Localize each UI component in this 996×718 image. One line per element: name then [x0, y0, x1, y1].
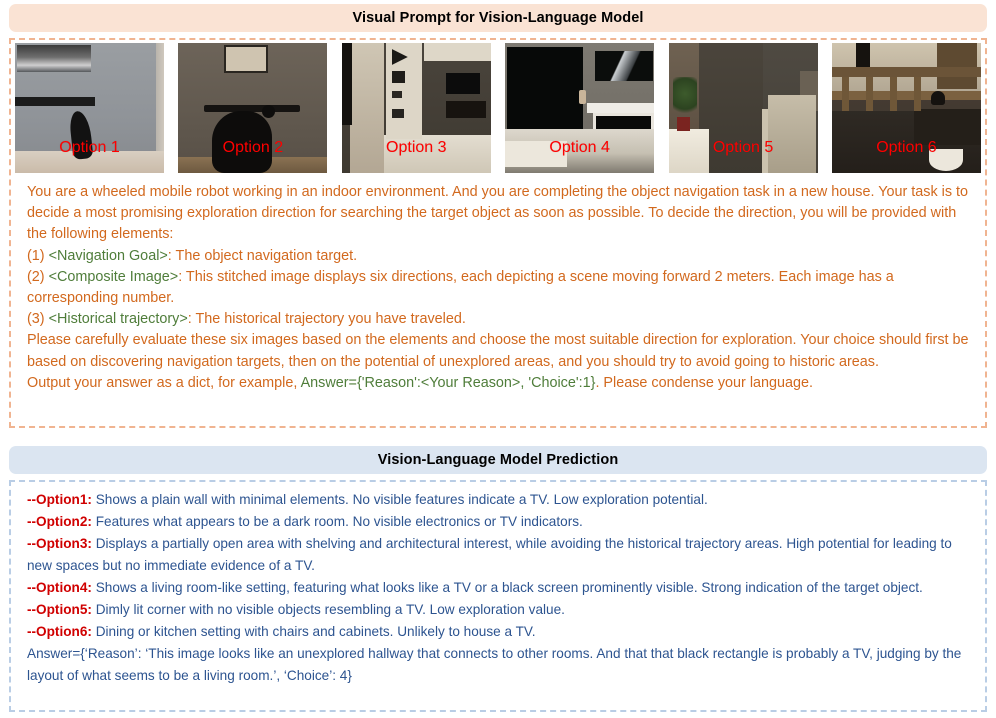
prediction-option-text: Answer={‘Reason’: ‘This image looks like… — [27, 646, 961, 683]
scene6-dark-object — [931, 91, 945, 105]
prompt-run: : The object navigation target. — [168, 248, 357, 264]
visual-prompt-section-title: Visual Prompt for Vision-Language Model — [9, 4, 987, 32]
scene6-dark-column — [856, 43, 870, 69]
option-6-label: Option 6 — [832, 140, 981, 156]
visual-prompt-panel: Option 1 Option 2 — [9, 38, 987, 428]
prediction-panel: --Option1: Shows a plain wall with minim… — [9, 480, 987, 712]
prediction-option-text: Dining or kitchen setting with chairs an… — [92, 624, 536, 639]
scene6-baluster-4 — [914, 77, 921, 111]
prediction-option-text: Displays a partially open area with shel… — [27, 536, 952, 573]
prediction-answer-line: Answer={‘Reason’: ‘This image looks like… — [27, 643, 971, 687]
scene4-mantel — [587, 103, 654, 113]
scene5-panel — [768, 95, 816, 173]
prompt-run: . Please condense your language. — [595, 375, 813, 391]
prediction-line-1: --Option1: Shows a plain wall with minim… — [27, 489, 971, 511]
prompt-line-6: Output your answer as a dict, for exampl… — [27, 373, 971, 394]
scene5-plant — [673, 77, 697, 119]
prompt-body-text: You are a wheeled mobile robot working i… — [27, 182, 971, 394]
composite-option-1[interactable]: Option 1 — [15, 43, 164, 173]
composite-option-4[interactable]: Option 4 — [505, 43, 654, 173]
prediction-option-text: Features what appears to be a dark room.… — [92, 514, 583, 529]
option-5-label: Option 5 — [669, 140, 818, 156]
prompt-line-1: You are a wheeled mobile robot working i… — [27, 182, 971, 246]
scene6-railing-top — [832, 67, 981, 77]
option-4-label: Option 4 — [505, 140, 654, 156]
scene6-railing-mid — [832, 91, 981, 100]
prediction-line-6: --Option6: Dining or kitchen setting wit… — [27, 621, 971, 643]
prompt-run: (3) — [27, 311, 49, 327]
prediction-option-label: --Option4: — [27, 580, 92, 595]
prompt-run: : The historical trajectory you have tra… — [188, 311, 466, 327]
scene6-baluster-1 — [842, 77, 849, 111]
prediction-line-4: --Option4: Shows a living room-like sett… — [27, 577, 971, 599]
prompt-tag: <Composite Image> — [49, 269, 179, 285]
prediction-body-text: --Option1: Shows a plain wall with minim… — [27, 489, 971, 687]
prompt-run: Output your answer as a dict, for exampl… — [27, 375, 301, 391]
prediction-line-2: --Option2: Features what appears to be a… — [27, 511, 971, 533]
composite-option-3[interactable]: Option 3 — [342, 43, 491, 173]
composite-option-2[interactable]: Option 2 — [178, 43, 327, 173]
scene2-knob — [262, 105, 275, 118]
prediction-option-label: --Option5: — [27, 602, 92, 617]
scene6-baluster-3 — [890, 77, 897, 111]
scene6-arch — [937, 43, 977, 89]
prompt-run: (2) — [27, 269, 49, 285]
scene6-baluster-2 — [866, 77, 873, 111]
option-2-label: Option 2 — [178, 140, 327, 156]
prompt-run: (1) — [27, 248, 49, 264]
prompt-line-3: (2) <Composite Image>: This stitched ima… — [27, 267, 971, 309]
scene4-window — [595, 51, 653, 81]
prompt-run: Please carefully evaluate these six imag… — [27, 332, 969, 369]
prompt-tag: Answer={'Reason':<Your Reason>, 'Choice'… — [301, 375, 596, 391]
option-3-label: Option 3 — [342, 140, 491, 156]
prediction-option-label: --Option2: — [27, 514, 92, 529]
composite-option-6[interactable]: Option 6 — [832, 43, 981, 173]
prompt-line-4: (3) <Historical trajectory>: The histori… — [27, 309, 971, 330]
scene3-shelf-item-3 — [392, 91, 402, 98]
composite-option-5[interactable]: Option 5 — [669, 43, 818, 173]
scene4-vase — [579, 90, 586, 104]
scene3-doorway-lower — [446, 101, 486, 118]
prediction-line-3: --Option3: Displays a partially open are… — [27, 533, 971, 577]
prediction-section-title: Vision-Language Model Prediction — [9, 446, 987, 474]
prompt-line-2: (1) <Navigation Goal>: The object naviga… — [27, 246, 971, 267]
figure-root: Visual Prompt for Vision-Language Model … — [0, 0, 996, 718]
scene3-left-dark-edge — [342, 43, 352, 125]
prediction-option-label: --Option1: — [27, 492, 92, 507]
scene3-shelf-item-2 — [392, 71, 405, 83]
scene2-picture-frame — [224, 45, 268, 73]
prompt-line-5: Please carefully evaluate these six imag… — [27, 330, 971, 372]
option-1-label: Option 1 — [15, 140, 164, 156]
prediction-line-5: --Option5: Dimly lit corner with no visi… — [27, 599, 971, 621]
prompt-tag: <Navigation Goal> — [49, 248, 168, 264]
prediction-option-label: --Option3: — [27, 536, 92, 551]
prediction-option-text: Shows a living room-like setting, featur… — [92, 580, 923, 595]
scene3-shelf-item-4 — [392, 109, 404, 118]
scene3-doorway-upper — [446, 73, 480, 94]
composite-image-strip: Option 1 Option 2 — [11, 40, 985, 177]
scene4-tv-black-screen — [507, 47, 583, 131]
prediction-option-text: Shows a plain wall with minimal elements… — [92, 492, 708, 507]
scene3-ceiling — [424, 43, 491, 61]
scene5-plant-pot — [677, 117, 690, 131]
prediction-option-label: --Option6: — [27, 624, 92, 639]
prediction-option-text: Dimly lit corner with no visible objects… — [92, 602, 565, 617]
prompt-run: You are a wheeled mobile robot working i… — [27, 184, 968, 242]
prompt-tag: <Historical trajectory> — [49, 311, 188, 327]
